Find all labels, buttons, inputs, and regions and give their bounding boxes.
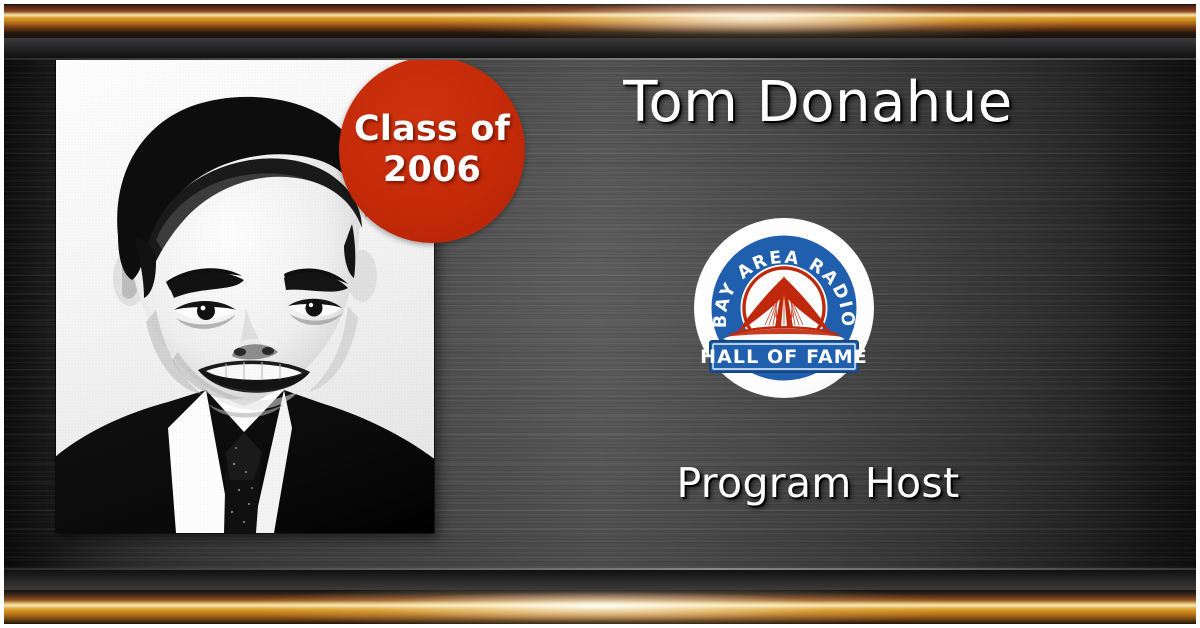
logo-banner-text: HALL OF FAME: [700, 346, 868, 368]
bay-area-radio-hall-of-fame-logo: BAY AREA RADIO HALL OF FAME: [693, 217, 875, 399]
inductee-name: Tom Donahue: [440, 72, 1196, 134]
hall-of-fame-inductee-card: Class of 2006 Tom Donahue: [0, 0, 1200, 628]
bevel-rail-top: [4, 38, 1196, 60]
gold-band-bottom: [4, 590, 1196, 624]
gold-band-top: [4, 4, 1196, 38]
bevel-rail-bottom: [4, 568, 1196, 590]
class-year: 2006: [383, 150, 481, 191]
bevel-highlight-top: [4, 58, 1196, 60]
gold-sheen-top: [4, 4, 1196, 38]
class-of-label: Class of: [354, 109, 510, 150]
class-of-badge: Class of 2006: [339, 57, 525, 243]
bevel-highlight-bottom: [4, 568, 1196, 570]
logo-artwork: BAY AREA RADIO HALL OF FAME: [693, 217, 875, 399]
gold-sheen-bottom: [4, 590, 1196, 624]
inductee-role: Program Host: [440, 461, 1196, 506]
